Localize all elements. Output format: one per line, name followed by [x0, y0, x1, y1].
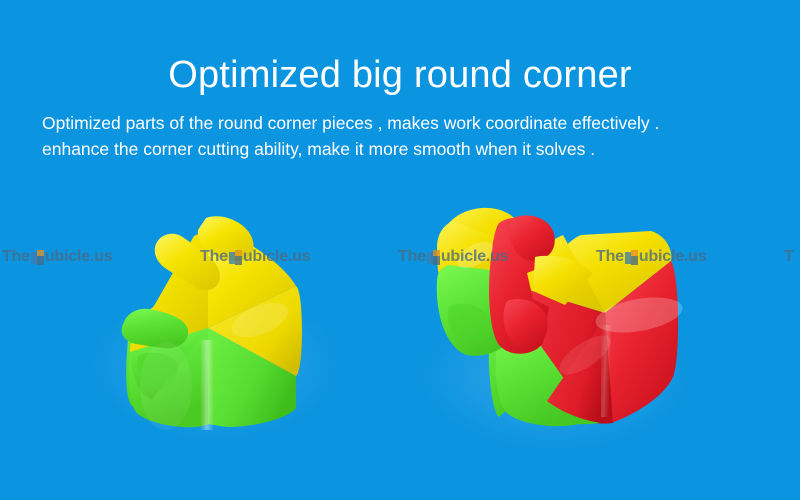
watermark-text-before: The [2, 248, 30, 266]
description-line-2: enhance the corner cutting ability, make… [42, 136, 782, 162]
watermark-partial: T [784, 248, 800, 266]
page-title: Optimized big round corner [0, 56, 800, 94]
description-line-1: Optimized parts of the round corner piec… [42, 110, 782, 136]
cube-logo-icon [31, 250, 44, 265]
watermark-text-partial: T [784, 248, 794, 266]
watermark: The ubicle.us [2, 248, 112, 266]
right-corner-piece-image [415, 195, 685, 435]
description-block: Optimized parts of the round corner piec… [42, 110, 782, 162]
left-corner-piece-image [100, 200, 340, 430]
product-feature-banner: Optimized big round corner Optimized par… [0, 0, 800, 500]
